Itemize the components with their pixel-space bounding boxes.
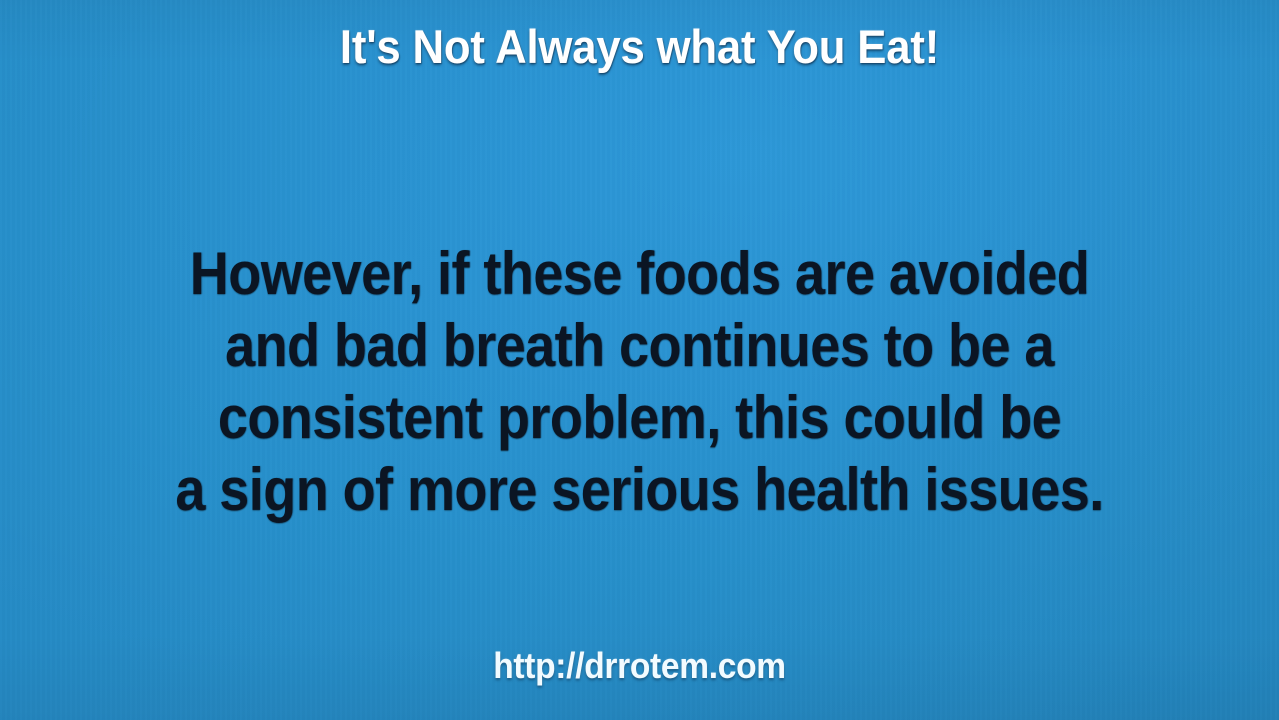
- body-line-1: However, if these foods are avoided: [64, 238, 1215, 310]
- body-line-3: consistent problem, this could be: [64, 382, 1215, 454]
- slide-content: It's Not Always what You Eat! However, i…: [0, 0, 1279, 720]
- footer-website-url: http://drrotem.com: [45, 645, 1234, 687]
- video-slide: It's Not Always what You Eat! However, i…: [0, 0, 1279, 720]
- body-line-4: a sign of more serious health issues.: [64, 454, 1215, 526]
- slide-body: However, if these foods are avoided and …: [0, 238, 1279, 526]
- body-line-2: and bad breath continues to be a: [64, 310, 1215, 382]
- slide-title: It's Not Always what You Eat!: [45, 22, 1234, 71]
